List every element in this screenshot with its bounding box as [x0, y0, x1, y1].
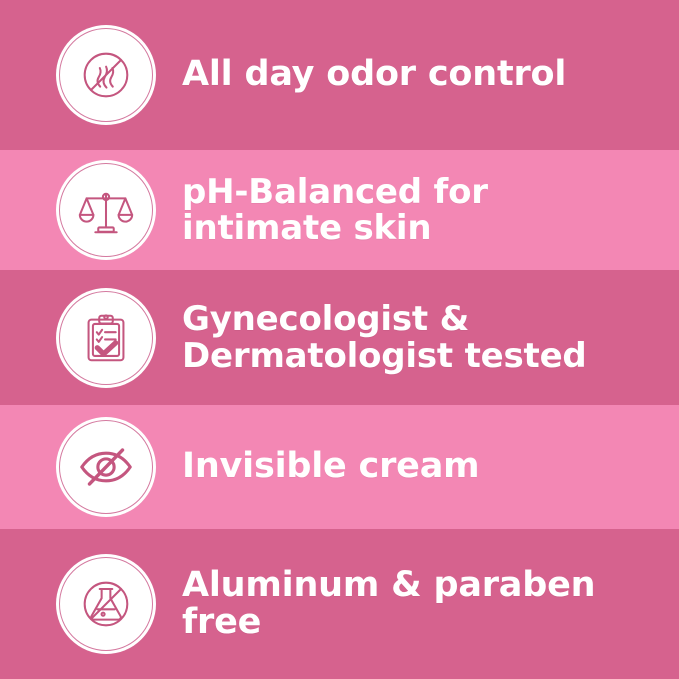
benefit-icon-badge [56, 160, 156, 260]
benefit-row-aluminum-paraben-free: Aluminum & paraben free [0, 529, 679, 679]
benefit-label: Invisible cream [182, 448, 479, 485]
benefit-label: pH-Balanced for intimate skin [182, 174, 488, 246]
benefit-icon-badge [56, 417, 156, 517]
benefit-icon-badge [56, 554, 156, 654]
benefit-icon-badge [56, 288, 156, 388]
benefit-icon-badge [56, 25, 156, 125]
benefit-label: All day odor control [182, 56, 566, 93]
no-odor-icon [75, 44, 137, 106]
benefits-list: All day odor control pH-Balanced for int… [0, 0, 679, 679]
balance-scale-icon [75, 179, 137, 241]
benefit-row-doctor-tested: Gynecologist & Dermatologist tested [0, 270, 679, 405]
benefit-label: Gynecologist & Dermatologist tested [182, 301, 587, 373]
benefit-row-invisible-cream: Invisible cream [0, 405, 679, 529]
eye-slash-icon [75, 436, 137, 498]
clipboard-check-icon [75, 307, 137, 369]
benefit-row-odor-control: All day odor control [0, 0, 679, 150]
benefit-label: Aluminum & paraben free [182, 567, 679, 641]
no-flask-icon [75, 573, 137, 635]
benefit-row-ph-balanced: pH-Balanced for intimate skin [0, 150, 679, 270]
